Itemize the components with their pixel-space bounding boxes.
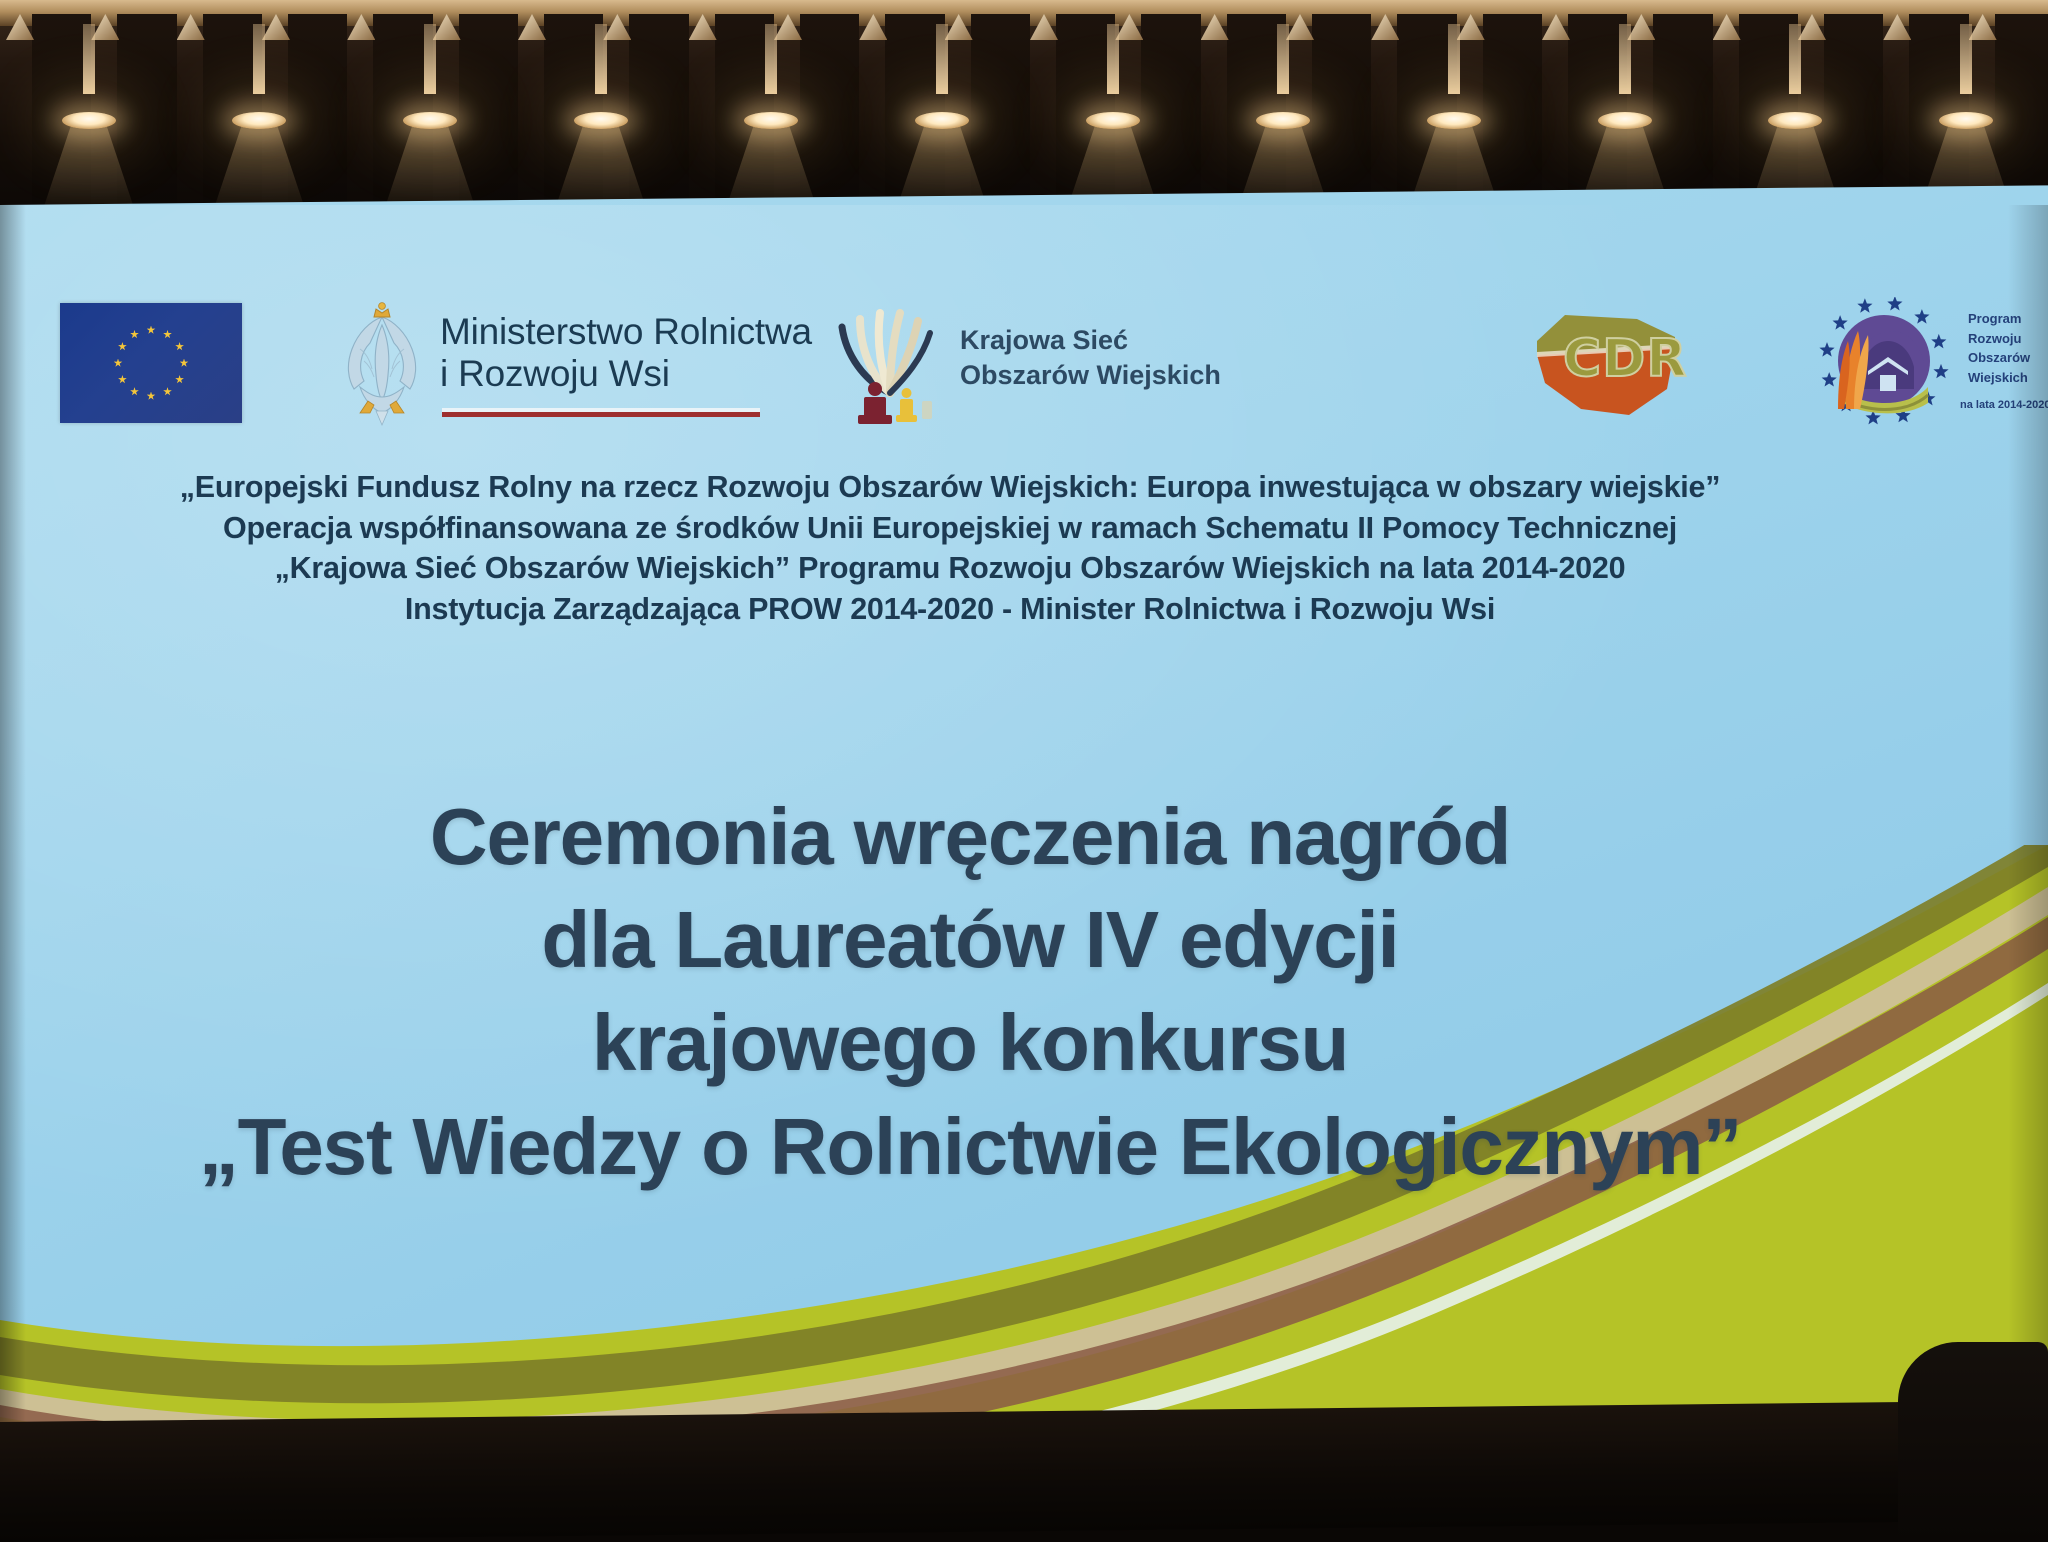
ceiling-slat [6, 14, 34, 212]
ministry-line-2: i Rozwoju Wsi [440, 353, 812, 395]
prow-star-icon [1887, 297, 1902, 311]
title-line-4: „Test Wiedzy o Rolnictwie Ekologicznym” [0, 1095, 1940, 1198]
european-union-flag-icon [60, 303, 242, 423]
downlight-stem [1619, 24, 1631, 94]
sponsor-logo-bar: Ministerstwo Rolnictwa i Rozwoju Wsi [60, 293, 1990, 433]
cdr-wordmark: CDR [1563, 329, 1687, 389]
disclaimer-line-1: „Europejski Fundusz Rolny na rzecz Rozwo… [0, 467, 1900, 508]
downlight-fixture [915, 112, 969, 129]
disclaimer-line-3: „Krajowa Sieć Obszarów Wiejskich” Progra… [0, 548, 1900, 589]
downlight-fixture [1598, 112, 1652, 129]
prow-star-icon [1933, 364, 1948, 378]
downlight-fixture [1256, 112, 1310, 129]
projection-screen: Ministerstwo Rolnictwa i Rozwoju Wsi [0, 185, 2048, 1485]
eu-star-icon [118, 342, 127, 351]
polish-white-eagle-emblem-icon [330, 295, 434, 429]
downlight-stem [1448, 24, 1460, 94]
eu-star-icon [163, 387, 172, 396]
downlight-fixture [744, 112, 798, 129]
disclaimer-line-2: Operacja współfinansowana ze środków Uni… [0, 508, 1900, 549]
prow-star-icon [1931, 334, 1946, 349]
prow-line-3: Obszarów [1968, 348, 2048, 368]
prow-star-icon [1857, 298, 1872, 313]
prow-years-label: na lata 2014-2020 [1960, 399, 2048, 411]
ceiling-bay [1824, 14, 1883, 212]
downlight-stem [1789, 24, 1801, 94]
downlight-fixture [232, 112, 286, 129]
eu-star-icon [175, 342, 184, 351]
downlight-fixture [1427, 112, 1481, 129]
ceiling-bay [288, 14, 347, 212]
downlight-stem [1960, 24, 1972, 94]
ksow-line-1: Krajowa Sieć [960, 323, 1221, 358]
eu-star-icon [180, 359, 189, 368]
silhouette-figure [1898, 1342, 2048, 1542]
prow-line-2: Rozwoju [1968, 329, 2048, 349]
ceiling-slat [689, 14, 717, 212]
prow-star-icon [1914, 309, 1929, 324]
ceiling-slat [177, 14, 205, 212]
ksow-line-2: Obszarów Wiejskich [960, 358, 1221, 393]
ceiling-bay [971, 14, 1030, 212]
downlight-stem [765, 24, 777, 94]
ksow-fan-logo-icon [830, 297, 950, 425]
ceiling-slat [1883, 14, 1911, 212]
ceiling-slat [1030, 14, 1058, 212]
ceiling-slat [518, 14, 546, 212]
downlight-fixture [1939, 112, 1993, 129]
ministry-name-label: Ministerstwo Rolnictwa i Rozwoju Wsi [440, 311, 812, 395]
downlight-fixture [1768, 112, 1822, 129]
ceiling-bay [629, 14, 688, 212]
ceiling-bay [1141, 14, 1200, 212]
ceiling-bay [1653, 14, 1712, 212]
eu-star-icon [130, 330, 139, 339]
ceiling-slat [1201, 14, 1229, 212]
downlight-stem [1277, 24, 1289, 94]
eu-star-icon [130, 387, 139, 396]
dark-stage-foreground [0, 1401, 2048, 1542]
prow-line-1: Program [1968, 309, 2048, 329]
ceiling-slat [1713, 14, 1741, 212]
downlight-fixture [1086, 112, 1140, 129]
ceiling-slat [1371, 14, 1399, 212]
eu-star-icon [118, 375, 127, 384]
prow-name-label: Program Rozwoju Obszarów Wiejskich [1968, 309, 2048, 387]
downlight-fixture [403, 112, 457, 129]
ceiling-bay [1483, 14, 1542, 212]
ceiling-slat [347, 14, 375, 212]
ceiling-with-downlights [0, 0, 2048, 212]
presentation-scene: Ministerstwo Rolnictwa i Rozwoju Wsi [0, 0, 2048, 1542]
eu-star-icon [147, 326, 156, 335]
ceiling-slat [1542, 14, 1570, 212]
downlight-stem [1107, 24, 1119, 94]
prow-logo-icon [1800, 297, 1960, 425]
prow-star-icon [1822, 372, 1837, 386]
title-line-1: Ceremonia wręczenia nagród [0, 785, 1940, 888]
ceiling-slat [859, 14, 887, 212]
ceiling-bay [800, 14, 859, 212]
eu-star-icon [163, 330, 172, 339]
downlight-stem [595, 24, 607, 94]
prow-line-4: Wiejskich [1968, 368, 2048, 388]
eu-star-icon [114, 359, 123, 368]
cdr-logo-icon: CDR [1525, 303, 1685, 419]
presentation-title: Ceremonia wręczenia nagród dla Laureatów… [0, 785, 1940, 1198]
downlight-fixture [62, 112, 116, 129]
downlight-stem [253, 24, 265, 94]
eu-funding-disclaimer: „Europejski Fundusz Rolny na rzecz Rozwo… [0, 467, 1900, 629]
ministry-flag-rule [442, 408, 760, 417]
downlight-stem [936, 24, 948, 94]
eu-star-icon [175, 375, 184, 384]
ceiling-bay [117, 14, 176, 212]
title-line-3: krajowego konkursu [0, 991, 1940, 1094]
ksow-name-label: Krajowa Sieć Obszarów Wiejskich [960, 323, 1221, 393]
ministry-line-1: Ministerstwo Rolnictwa [440, 311, 812, 353]
ceiling-bay [1312, 14, 1371, 212]
downlight-stem [424, 24, 436, 94]
prow-star-icon [1819, 342, 1834, 357]
downlight-stem [83, 24, 95, 94]
eu-star-icon [147, 392, 156, 401]
prow-star-icon [1833, 315, 1848, 330]
downlight-fixture [574, 112, 628, 129]
disclaimer-line-4: Instytucja Zarządzająca PROW 2014-2020 -… [0, 589, 1900, 630]
title-line-2: dla Laureatów IV edycji [0, 888, 1940, 991]
ceiling-bay [459, 14, 518, 212]
